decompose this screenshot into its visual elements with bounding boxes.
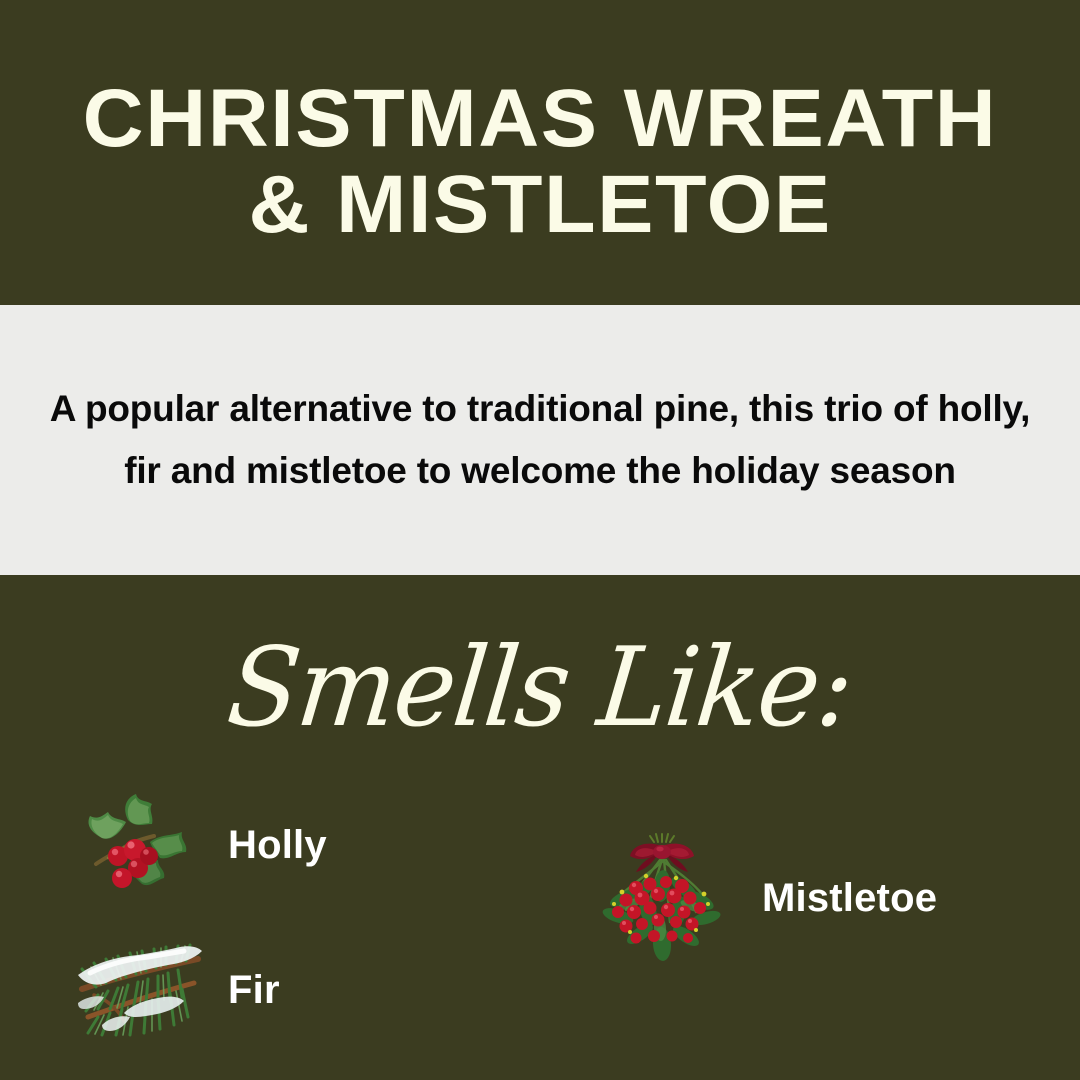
ingredient-item-mistletoe: Mistletoe (588, 828, 937, 968)
holly-sprig-icon (72, 780, 212, 910)
description-text: A popular alternative to traditional pin… (40, 378, 1040, 502)
smells-like-heading: Smells Like: (0, 608, 1080, 766)
mistletoe-bunch-with-bow-icon (588, 828, 736, 968)
poster-canvas: CHRISTMAS WREATH & MISTLETOE A popular a… (0, 0, 1080, 1080)
poster-title-line-1: CHRISTMAS WREATH (83, 76, 998, 162)
description-band: A popular alternative to traditional pin… (0, 305, 1080, 575)
ingredient-label-holly: Holly (228, 825, 327, 865)
ingredient-item-fir: Fir (72, 925, 280, 1055)
ingredient-label-mistletoe: Mistletoe (762, 878, 937, 918)
poster-title-line-2: & MISTLETOE (248, 162, 831, 248)
ingredient-label-fir: Fir (228, 970, 280, 1010)
title-block: CHRISTMAS WREATH & MISTLETOE (0, 0, 1080, 305)
ingredient-item-holly: Holly (72, 780, 327, 910)
snowy-fir-branch-icon (72, 925, 212, 1055)
